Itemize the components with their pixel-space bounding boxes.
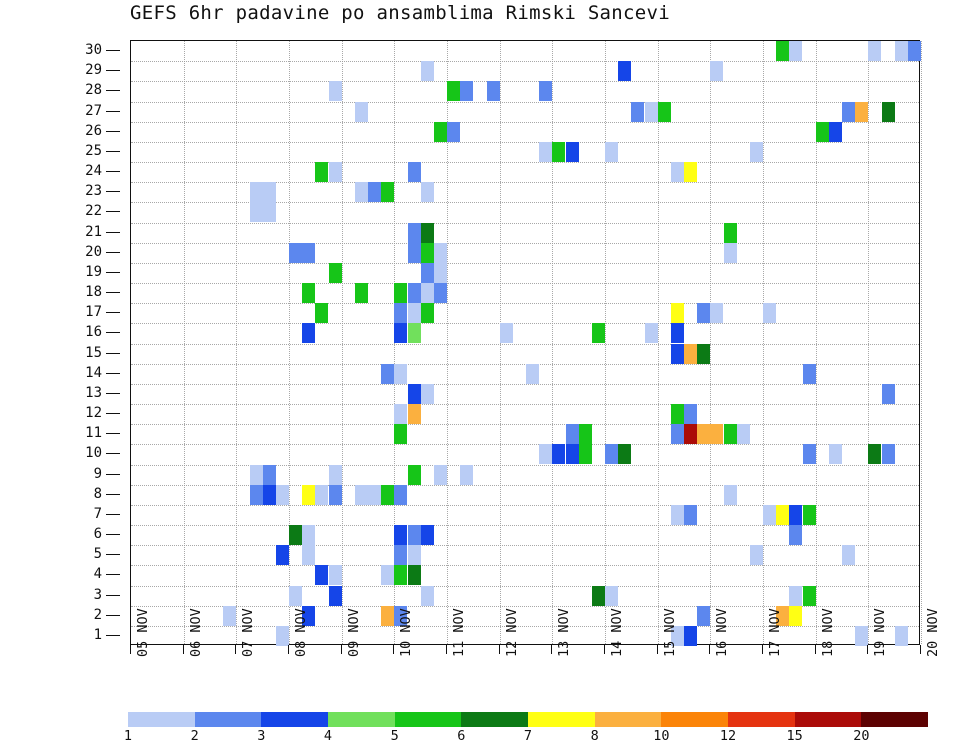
- precip-cell: [908, 41, 921, 61]
- precip-cell: [631, 102, 644, 122]
- precip-cell: [645, 102, 658, 122]
- precip-cell: [684, 424, 697, 444]
- x-tick-mark-5: [393, 645, 394, 654]
- precip-cell: [408, 243, 421, 263]
- precip-cell: [302, 283, 315, 303]
- precip-cell: [829, 444, 842, 464]
- y-tick-label-30: 30: [85, 42, 102, 58]
- y-tick-label-29: 29: [85, 62, 102, 78]
- precip-cell: [671, 344, 684, 364]
- precip-cell: [737, 424, 750, 444]
- precip-cell: [566, 424, 579, 444]
- precip-cell: [263, 485, 276, 505]
- y-tick-mark-5: [106, 554, 120, 555]
- precip-cell: [671, 162, 684, 182]
- colorbar-band-20: [861, 712, 928, 727]
- precip-cell: [684, 626, 697, 646]
- precip-cell: [684, 505, 697, 525]
- y-tick-mark-16: [106, 332, 120, 333]
- x-tick-mark-11: [709, 645, 710, 654]
- precip-cell: [394, 525, 407, 545]
- y-tick-label-15: 15: [85, 345, 102, 361]
- precip-cell: [724, 223, 737, 243]
- x-tick-mark-14: [867, 645, 868, 654]
- precip-cell: [434, 283, 447, 303]
- precip-cell: [276, 545, 289, 565]
- y-tick-mark-28: [106, 90, 120, 91]
- precip-cell: [250, 182, 263, 202]
- precip-cell: [789, 41, 802, 61]
- precip-cell: [789, 606, 802, 626]
- precip-cell: [421, 61, 434, 81]
- precip-cell: [882, 102, 895, 122]
- y-tick-mark-23: [106, 191, 120, 192]
- precip-cell: [895, 41, 908, 61]
- precip-cell: [776, 41, 789, 61]
- precip-cell: [421, 303, 434, 323]
- precip-cell: [618, 444, 631, 464]
- gridline-vertical: [921, 41, 922, 644]
- precip-cell: [697, 606, 710, 626]
- x-tick-label-12: 17 NOV: [767, 608, 783, 657]
- precip-cell: [421, 263, 434, 283]
- precip-cell: [684, 344, 697, 364]
- precip-cell: [671, 303, 684, 323]
- precip-cell: [276, 485, 289, 505]
- colorbar-band-1: [128, 712, 195, 727]
- precip-cell: [855, 626, 868, 646]
- precip-cell: [315, 485, 328, 505]
- precip-cell: [671, 323, 684, 343]
- precip-cell: [394, 283, 407, 303]
- x-tick-label-2: 07 NOV: [240, 608, 256, 657]
- precip-cell: [394, 323, 407, 343]
- precip-cell: [842, 102, 855, 122]
- precip-cell: [434, 465, 447, 485]
- precip-cell: [447, 122, 460, 142]
- precip-cell: [763, 303, 776, 323]
- y-tick-mark-15: [106, 353, 120, 354]
- precip-cell: [855, 102, 868, 122]
- precip-cell: [763, 505, 776, 525]
- precip-cell: [671, 424, 684, 444]
- y-tick-mark-20: [106, 252, 120, 253]
- precip-cell: [329, 586, 342, 606]
- precip-cell: [724, 485, 737, 505]
- x-tick-label-0: 05 NOV: [135, 608, 151, 657]
- y-tick-label-28: 28: [85, 82, 102, 98]
- colorbar-tick-labels: 1234567810121520: [128, 728, 928, 746]
- y-tick-mark-3: [106, 595, 120, 596]
- precip-cell: [368, 485, 381, 505]
- precip-cell: [329, 81, 342, 101]
- precip-cell: [842, 545, 855, 565]
- colorbar-band-4: [328, 712, 395, 727]
- precip-cell: [408, 223, 421, 243]
- precip-cell: [302, 525, 315, 545]
- precip-cell: [789, 505, 802, 525]
- precip-cell: [408, 565, 421, 585]
- precip-cell: [526, 364, 539, 384]
- x-tick-mark-10: [657, 645, 658, 654]
- x-tick-label-8: 13 NOV: [556, 608, 572, 657]
- y-tick-label-9: 9: [94, 466, 102, 482]
- x-tick-label-4: 09 NOV: [346, 608, 362, 657]
- y-tick-label-12: 12: [85, 405, 102, 421]
- precip-cell: [289, 243, 302, 263]
- precip-cell: [329, 465, 342, 485]
- precip-cell: [592, 586, 605, 606]
- y-tick-label-23: 23: [85, 183, 102, 199]
- y-tick-label-7: 7: [94, 506, 102, 522]
- precip-cell: [408, 465, 421, 485]
- precip-cell: [421, 243, 434, 263]
- precip-cell: [394, 424, 407, 444]
- precip-cell: [250, 202, 263, 222]
- precip-cell: [684, 404, 697, 424]
- chart-stage: GEFS 6hr padavine po ansamblima Rimski S…: [0, 0, 960, 742]
- x-tick-label-5: 10 NOV: [398, 608, 414, 657]
- y-tick-mark-8: [106, 494, 120, 495]
- y-tick-mark-19: [106, 272, 120, 273]
- y-tick-mark-14: [106, 373, 120, 374]
- x-tick-label-14: 19 NOV: [872, 608, 888, 657]
- y-tick-mark-2: [106, 615, 120, 616]
- precip-cell: [408, 283, 421, 303]
- precip-cell: [882, 384, 895, 404]
- precip-cell: [566, 142, 579, 162]
- precip-cell: [329, 162, 342, 182]
- precip-cell: [421, 283, 434, 303]
- precip-cell: [315, 565, 328, 585]
- y-tick-mark-17: [106, 312, 120, 313]
- x-tick-label-6: 11 NOV: [451, 608, 467, 657]
- x-tick-mark-8: [551, 645, 552, 654]
- precip-cell: [421, 586, 434, 606]
- precip-cell: [302, 323, 315, 343]
- y-tick-mark-13: [106, 393, 120, 394]
- precip-cell: [500, 323, 513, 343]
- precip-cell: [671, 505, 684, 525]
- precip-cell: [434, 243, 447, 263]
- y-tick-mark-11: [106, 433, 120, 434]
- precip-cell: [368, 182, 381, 202]
- precip-cell: [552, 142, 565, 162]
- precip-cell: [592, 323, 605, 343]
- y-tick-mark-9: [106, 474, 120, 475]
- precip-cell: [408, 323, 421, 343]
- y-axis: 3029282726252423222120191817161514131211…: [0, 40, 128, 645]
- precip-cell: [803, 364, 816, 384]
- precip-cell: [460, 465, 473, 485]
- y-tick-mark-6: [106, 534, 120, 535]
- precip-cell: [421, 525, 434, 545]
- colorbar-band-3: [261, 712, 328, 727]
- x-tick-mark-0: [130, 645, 131, 654]
- precip-cell: [710, 61, 723, 81]
- y-tick-label-13: 13: [85, 385, 102, 401]
- precip-cell: [697, 344, 710, 364]
- precip-cell: [671, 404, 684, 424]
- y-tick-label-6: 6: [94, 526, 102, 542]
- colorbar-band-6: [461, 712, 528, 727]
- precip-cell: [408, 303, 421, 323]
- x-axis: 05 NOV06 NOV07 NOV08 NOV09 NOV10 NOV11 N…: [130, 645, 920, 705]
- precip-cell: [803, 444, 816, 464]
- x-tick-mark-4: [341, 645, 342, 654]
- y-tick-label-8: 8: [94, 486, 102, 502]
- y-tick-mark-10: [106, 453, 120, 454]
- precip-cell: [697, 424, 710, 444]
- plot-area: [130, 40, 920, 645]
- y-tick-label-17: 17: [85, 304, 102, 320]
- precip-cell: [579, 424, 592, 444]
- y-tick-mark-12: [106, 413, 120, 414]
- precip-cell: [408, 162, 421, 182]
- precip-cell: [750, 545, 763, 565]
- precip-cell: [263, 202, 276, 222]
- precip-cell: [381, 182, 394, 202]
- precip-cell: [289, 586, 302, 606]
- precip-cell-grid: [131, 41, 919, 644]
- precip-cell: [329, 263, 342, 283]
- precip-cell: [250, 485, 263, 505]
- y-tick-label-10: 10: [85, 445, 102, 461]
- precip-cell: [408, 384, 421, 404]
- x-tick-label-1: 06 NOV: [188, 608, 204, 657]
- precip-cell: [355, 182, 368, 202]
- y-tick-mark-25: [106, 151, 120, 152]
- y-tick-mark-24: [106, 171, 120, 172]
- precip-cell: [605, 444, 618, 464]
- precip-cell: [302, 485, 315, 505]
- precip-cell: [684, 162, 697, 182]
- precip-cell: [434, 263, 447, 283]
- y-tick-mark-1: [106, 635, 120, 636]
- y-tick-mark-29: [106, 70, 120, 71]
- precip-cell: [421, 223, 434, 243]
- precip-cell: [618, 61, 631, 81]
- precip-cell: [539, 142, 552, 162]
- colorbar-band-15: [795, 712, 862, 727]
- x-tick-mark-9: [604, 645, 605, 654]
- x-tick-mark-13: [815, 645, 816, 654]
- y-tick-label-22: 22: [85, 203, 102, 219]
- y-tick-label-27: 27: [85, 103, 102, 119]
- precip-cell: [579, 444, 592, 464]
- precip-cell: [868, 41, 881, 61]
- precip-cell: [803, 505, 816, 525]
- precip-cell: [329, 565, 342, 585]
- precip-cell: [434, 122, 447, 142]
- y-tick-label-11: 11: [85, 425, 102, 441]
- x-tick-label-15: 20 NOV: [925, 608, 941, 657]
- y-tick-label-5: 5: [94, 546, 102, 562]
- precip-cell: [355, 283, 368, 303]
- precip-cell: [302, 243, 315, 263]
- precip-cell: [394, 545, 407, 565]
- page-title: GEFS 6hr padavine po ansamblima Rimski S…: [130, 2, 830, 24]
- precip-cell: [829, 122, 842, 142]
- precip-cell: [789, 525, 802, 545]
- y-tick-label-19: 19: [85, 264, 102, 280]
- x-tick-label-13: 18 NOV: [820, 608, 836, 657]
- colorbar-band-8: [595, 712, 662, 727]
- precip-cell: [697, 303, 710, 323]
- y-tick-mark-21: [106, 232, 120, 233]
- y-tick-label-4: 4: [94, 566, 102, 582]
- precip-cell: [394, 565, 407, 585]
- x-tick-label-3: 08 NOV: [293, 608, 309, 657]
- precip-cell: [724, 243, 737, 263]
- precip-cell: [381, 485, 394, 505]
- colorbar-band-12: [728, 712, 795, 727]
- precip-cell: [408, 545, 421, 565]
- y-tick-label-24: 24: [85, 163, 102, 179]
- precip-cell: [868, 444, 881, 464]
- precip-cell: [803, 586, 816, 606]
- precip-cell: [289, 525, 302, 545]
- precip-cell: [776, 505, 789, 525]
- precip-cell: [394, 404, 407, 424]
- x-tick-mark-1: [183, 645, 184, 654]
- precip-cell: [276, 626, 289, 646]
- precip-cell: [710, 303, 723, 323]
- x-tick-mark-12: [762, 645, 763, 654]
- precip-cell: [605, 586, 618, 606]
- y-tick-label-3: 3: [94, 587, 102, 603]
- precip-cell: [566, 444, 579, 464]
- precip-cell: [250, 465, 263, 485]
- y-tick-label-20: 20: [85, 244, 102, 260]
- precip-cell: [710, 424, 723, 444]
- colorbar-band-2: [195, 712, 262, 727]
- y-tick-mark-22: [106, 211, 120, 212]
- precip-cell: [882, 444, 895, 464]
- x-tick-mark-3: [288, 645, 289, 654]
- precip-cell: [381, 606, 394, 626]
- precip-cell: [315, 162, 328, 182]
- colorbar-band-10: [661, 712, 728, 727]
- y-tick-mark-4: [106, 574, 120, 575]
- precip-cell: [605, 142, 618, 162]
- precip-cell: [408, 525, 421, 545]
- precip-cell: [552, 444, 565, 464]
- precip-cell: [394, 485, 407, 505]
- x-tick-mark-2: [235, 645, 236, 654]
- precip-cell: [421, 384, 434, 404]
- precip-cell: [645, 323, 658, 343]
- precip-cell: [539, 81, 552, 101]
- precip-cell: [895, 626, 908, 646]
- precip-cell: [658, 102, 671, 122]
- precip-cell: [381, 565, 394, 585]
- colorbar-legend: [128, 712, 928, 727]
- precip-cell: [381, 364, 394, 384]
- x-tick-label-10: 15 NOV: [662, 608, 678, 657]
- precip-cell: [421, 182, 434, 202]
- y-tick-label-2: 2: [94, 607, 102, 623]
- precip-cell: [263, 182, 276, 202]
- y-tick-mark-27: [106, 111, 120, 112]
- y-tick-label-26: 26: [85, 123, 102, 139]
- precip-cell: [460, 81, 473, 101]
- precip-cell: [263, 465, 276, 485]
- y-tick-mark-26: [106, 131, 120, 132]
- precip-cell: [539, 444, 552, 464]
- x-tick-label-9: 14 NOV: [609, 608, 625, 657]
- precip-cell: [315, 303, 328, 323]
- y-tick-label-1: 1: [94, 627, 102, 643]
- precip-cell: [487, 81, 500, 101]
- y-tick-label-21: 21: [85, 224, 102, 240]
- x-tick-mark-6: [446, 645, 447, 654]
- x-tick-mark-7: [499, 645, 500, 654]
- precip-cell: [329, 485, 342, 505]
- y-tick-label-25: 25: [85, 143, 102, 159]
- y-tick-mark-18: [106, 292, 120, 293]
- y-tick-label-14: 14: [85, 365, 102, 381]
- precip-cell: [750, 142, 763, 162]
- y-tick-label-18: 18: [85, 284, 102, 300]
- precip-cell: [789, 586, 802, 606]
- precip-cell: [724, 424, 737, 444]
- precip-cell: [394, 364, 407, 384]
- y-tick-mark-7: [106, 514, 120, 515]
- precip-cell: [355, 485, 368, 505]
- precip-cell: [355, 102, 368, 122]
- colorbar-band-7: [528, 712, 595, 727]
- precip-cell: [394, 303, 407, 323]
- precip-cell: [447, 81, 460, 101]
- precip-cell: [408, 404, 421, 424]
- x-tick-label-11: 16 NOV: [714, 608, 730, 657]
- precip-cell: [816, 122, 829, 142]
- precip-cell: [223, 606, 236, 626]
- x-tick-label-7: 12 NOV: [504, 608, 520, 657]
- y-tick-mark-30: [106, 50, 120, 51]
- precip-cell: [302, 545, 315, 565]
- colorbar-band-5: [395, 712, 462, 727]
- x-tick-mark-15: [920, 645, 921, 654]
- y-tick-label-16: 16: [85, 324, 102, 340]
